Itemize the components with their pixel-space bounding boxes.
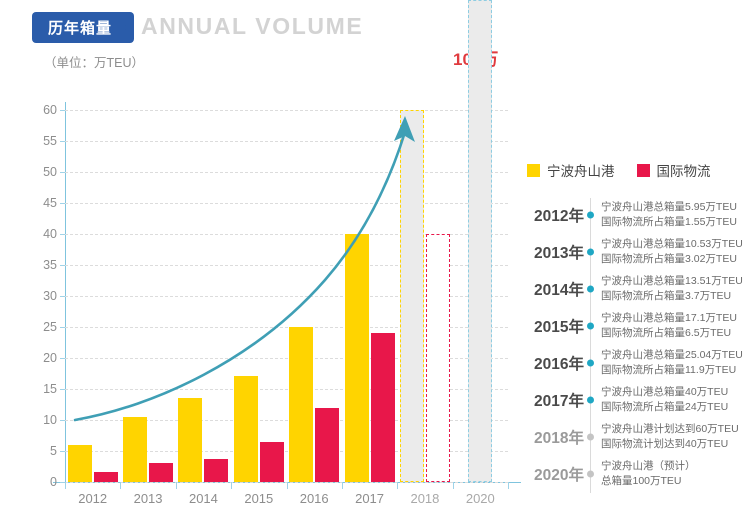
list-item[interactable]: 2015年宁波舟山港总箱量17.1万TEU国际物流所占箱量6.5万TEU <box>527 307 753 344</box>
y-tick-label: 40 <box>43 227 57 241</box>
timeline-dot-icon <box>587 322 594 329</box>
x-axis-label-2017: 2017 <box>355 491 384 506</box>
x-axis-label-2016: 2016 <box>300 491 329 506</box>
x-axis-label-2013: 2013 <box>134 491 163 506</box>
timeline-year-label: 2017年 <box>527 389 584 411</box>
timeline-detail-line-1: 宁波舟山港（预计） <box>601 458 696 473</box>
timeline-detail-line-1: 宁波舟山港总箱量10.53万TEU <box>601 236 743 251</box>
timeline-dot-icon <box>587 211 594 218</box>
y-tick-mark <box>60 327 65 328</box>
timeline-detail-text: 宁波舟山港总箱量17.1万TEU国际物流所占箱量6.5万TEU <box>601 310 737 340</box>
x-tick <box>453 482 454 489</box>
y-tick-mark <box>60 389 65 390</box>
x-axis-label-2014: 2014 <box>189 491 218 506</box>
timeline-detail-text: 宁波舟山港计划达到60万TEU国际物流计划达到40万TEU <box>601 421 739 451</box>
y-tick-label: 30 <box>43 289 57 303</box>
timeline-dot-icon <box>587 396 594 403</box>
gridline <box>65 172 508 173</box>
gridline <box>65 110 508 111</box>
x-axis-label-2020: 2020 <box>466 491 495 506</box>
legend-item-0[interactable]: 宁波舟山港 <box>527 160 615 180</box>
bar-宁波舟山港-2015[interactable] <box>234 376 258 482</box>
timeline-detail-line-2: 国际物流计划达到40万TEU <box>601 437 739 452</box>
x-tick <box>176 482 177 489</box>
timeline-year-label: 2018年 <box>527 426 584 448</box>
bar-宁波舟山港-2013[interactable] <box>123 417 147 482</box>
legend-swatch-icon <box>637 164 650 177</box>
x-axis-label-2012: 2012 <box>78 491 107 506</box>
bar-宁波舟山港-2017[interactable] <box>345 234 369 482</box>
bar-国际物流-2017[interactable] <box>371 333 395 482</box>
timeline-detail-line-2: 国际物流所占箱量11.9万TEU <box>601 363 743 378</box>
gridline <box>65 203 508 204</box>
list-item[interactable]: 2016年宁波舟山港总箱量25.04万TEU国际物流所占箱量11.9万TEU <box>527 344 753 381</box>
y-tick-mark <box>60 141 65 142</box>
timeline-year-label: 2016年 <box>527 352 584 374</box>
y-tick-mark <box>60 203 65 204</box>
plot-area: 051015202530354045505560 201220132014201… <box>65 110 508 482</box>
bar-chart: 100万 051015202530354045505560 2012201320… <box>0 0 520 523</box>
list-item[interactable]: 2018年宁波舟山港计划达到60万TEU国际物流计划达到40万TEU <box>527 418 753 455</box>
y-tick-mark <box>60 420 65 421</box>
timeline-detail-line-2: 国际物流所占箱量6.5万TEU <box>601 326 737 341</box>
timeline-detail-line-1: 宁波舟山港总箱量40万TEU <box>601 384 728 399</box>
list-item[interactable]: 2020年宁波舟山港（预计）总箱量100万TEU <box>527 455 753 492</box>
gridline <box>65 141 508 142</box>
y-tick-mark <box>60 358 65 359</box>
x-axis-label-2015: 2015 <box>244 491 273 506</box>
timeline-detail-line-2: 国际物流所占箱量3.02万TEU <box>601 252 743 267</box>
list-item[interactable]: 2013年宁波舟山港总箱量10.53万TEU国际物流所占箱量3.02万TEU <box>527 233 753 270</box>
bar-宁波舟山港-2020[interactable] <box>468 0 492 482</box>
x-tick <box>120 482 121 489</box>
bar-宁波舟山港-2012[interactable] <box>68 445 92 482</box>
timeline-detail-text: 宁波舟山港总箱量5.95万TEU国际物流所占箱量1.55万TEU <box>601 199 737 229</box>
bar-国际物流-2014[interactable] <box>204 459 228 482</box>
timeline-dot-icon <box>587 359 594 366</box>
y-tick-label: 55 <box>43 134 57 148</box>
bar-宁波舟山港-2018[interactable] <box>400 110 424 482</box>
timeline-detail-text: 宁波舟山港总箱量13.51万TEU国际物流所占箱量3.7万TEU <box>601 273 743 303</box>
annual-volume-infographic: 历年箱量 ANNUAL VOLUME （单位：万TEU） 100万 051015… <box>0 0 753 523</box>
y-tick-label: 35 <box>43 258 57 272</box>
timeline-detail-line-2: 总箱量100万TEU <box>601 474 696 489</box>
y-tick-label: 60 <box>43 103 57 117</box>
timeline-detail-line-1: 宁波舟山港总箱量13.51万TEU <box>601 273 743 288</box>
timeline-detail-line-2: 国际物流所占箱量3.7万TEU <box>601 289 743 304</box>
timeline-detail-text: 宁波舟山港总箱量10.53万TEU国际物流所占箱量3.02万TEU <box>601 236 743 266</box>
legend-swatch-icon <box>527 164 540 177</box>
timeline-detail-text: 宁波舟山港总箱量40万TEU国际物流所占箱量24万TEU <box>601 384 728 414</box>
timeline-detail-line-1: 宁波舟山港计划达到60万TEU <box>601 421 739 436</box>
timeline-year-label: 2013年 <box>527 241 584 263</box>
y-tick-mark <box>60 172 65 173</box>
bar-宁波舟山港-2014[interactable] <box>178 398 202 482</box>
y-tick-label: 15 <box>43 382 57 396</box>
timeline-dot-icon <box>587 248 594 255</box>
y-tick-label: 45 <box>43 196 57 210</box>
y-tick-label: 25 <box>43 320 57 334</box>
timeline-dot-icon <box>587 470 594 477</box>
bar-宁波舟山港-2016[interactable] <box>289 327 313 482</box>
bar-国际物流-2015[interactable] <box>260 442 284 482</box>
legend-label: 国际物流 <box>657 160 711 180</box>
list-item[interactable]: 2012年宁波舟山港总箱量5.95万TEU国际物流所占箱量1.55万TEU <box>527 196 753 233</box>
y-tick-label: 0 <box>50 475 57 489</box>
y-tick-label: 5 <box>50 444 57 458</box>
y-tick-mark <box>60 234 65 235</box>
list-item[interactable]: 2014年宁波舟山港总箱量13.51万TEU国际物流所占箱量3.7万TEU <box>527 270 753 307</box>
y-tick-label: 10 <box>43 413 57 427</box>
timeline-detail-text: 宁波舟山港（预计）总箱量100万TEU <box>601 458 696 488</box>
timeline-dot-icon <box>587 433 594 440</box>
bar-国际物流-2016[interactable] <box>315 408 339 482</box>
timeline-dot-icon <box>587 285 594 292</box>
list-item[interactable]: 2017年宁波舟山港总箱量40万TEU国际物流所占箱量24万TEU <box>527 381 753 418</box>
y-tick-label: 50 <box>43 165 57 179</box>
bar-国际物流-2012[interactable] <box>94 472 118 482</box>
y-tick-mark <box>60 451 65 452</box>
y-tick-mark <box>60 265 65 266</box>
x-tick <box>342 482 343 489</box>
timeline-detail-line-2: 国际物流所占箱量24万TEU <box>601 400 728 415</box>
legend-label: 宁波舟山港 <box>547 160 615 180</box>
bar-国际物流-2018[interactable] <box>426 234 450 482</box>
timeline-detail-line-1: 宁波舟山港总箱量25.04万TEU <box>601 347 743 362</box>
timeline-year-label: 2012年 <box>527 204 584 226</box>
timeline-year-label: 2015年 <box>527 315 584 337</box>
timeline-detail-line-1: 宁波舟山港总箱量5.95万TEU <box>601 199 737 214</box>
timeline-detail-text: 宁波舟山港总箱量25.04万TEU国际物流所占箱量11.9万TEU <box>601 347 743 377</box>
y-tick-label: 20 <box>43 351 57 365</box>
y-tick-mark <box>60 110 65 111</box>
chart-legend: 宁波舟山港国际物流 <box>527 160 711 180</box>
x-tick <box>287 482 288 489</box>
y-tick-mark <box>60 296 65 297</box>
y-axis-line <box>65 102 66 482</box>
timeline-detail-line-1: 宁波舟山港总箱量17.1万TEU <box>601 310 737 325</box>
legend-item-1[interactable]: 国际物流 <box>637 160 711 180</box>
bar-国际物流-2013[interactable] <box>149 463 173 482</box>
timeline-year-label: 2020年 <box>527 463 584 485</box>
x-tick <box>231 482 232 489</box>
yearly-detail-list: 2012年宁波舟山港总箱量5.95万TEU国际物流所占箱量1.55万TEU201… <box>527 196 753 492</box>
x-tick <box>397 482 398 489</box>
x-axis-label-2018: 2018 <box>410 491 439 506</box>
timeline-year-label: 2014年 <box>527 278 584 300</box>
x-tick <box>65 482 66 489</box>
x-tick <box>508 482 509 489</box>
timeline-detail-line-2: 国际物流所占箱量1.55万TEU <box>601 215 737 230</box>
